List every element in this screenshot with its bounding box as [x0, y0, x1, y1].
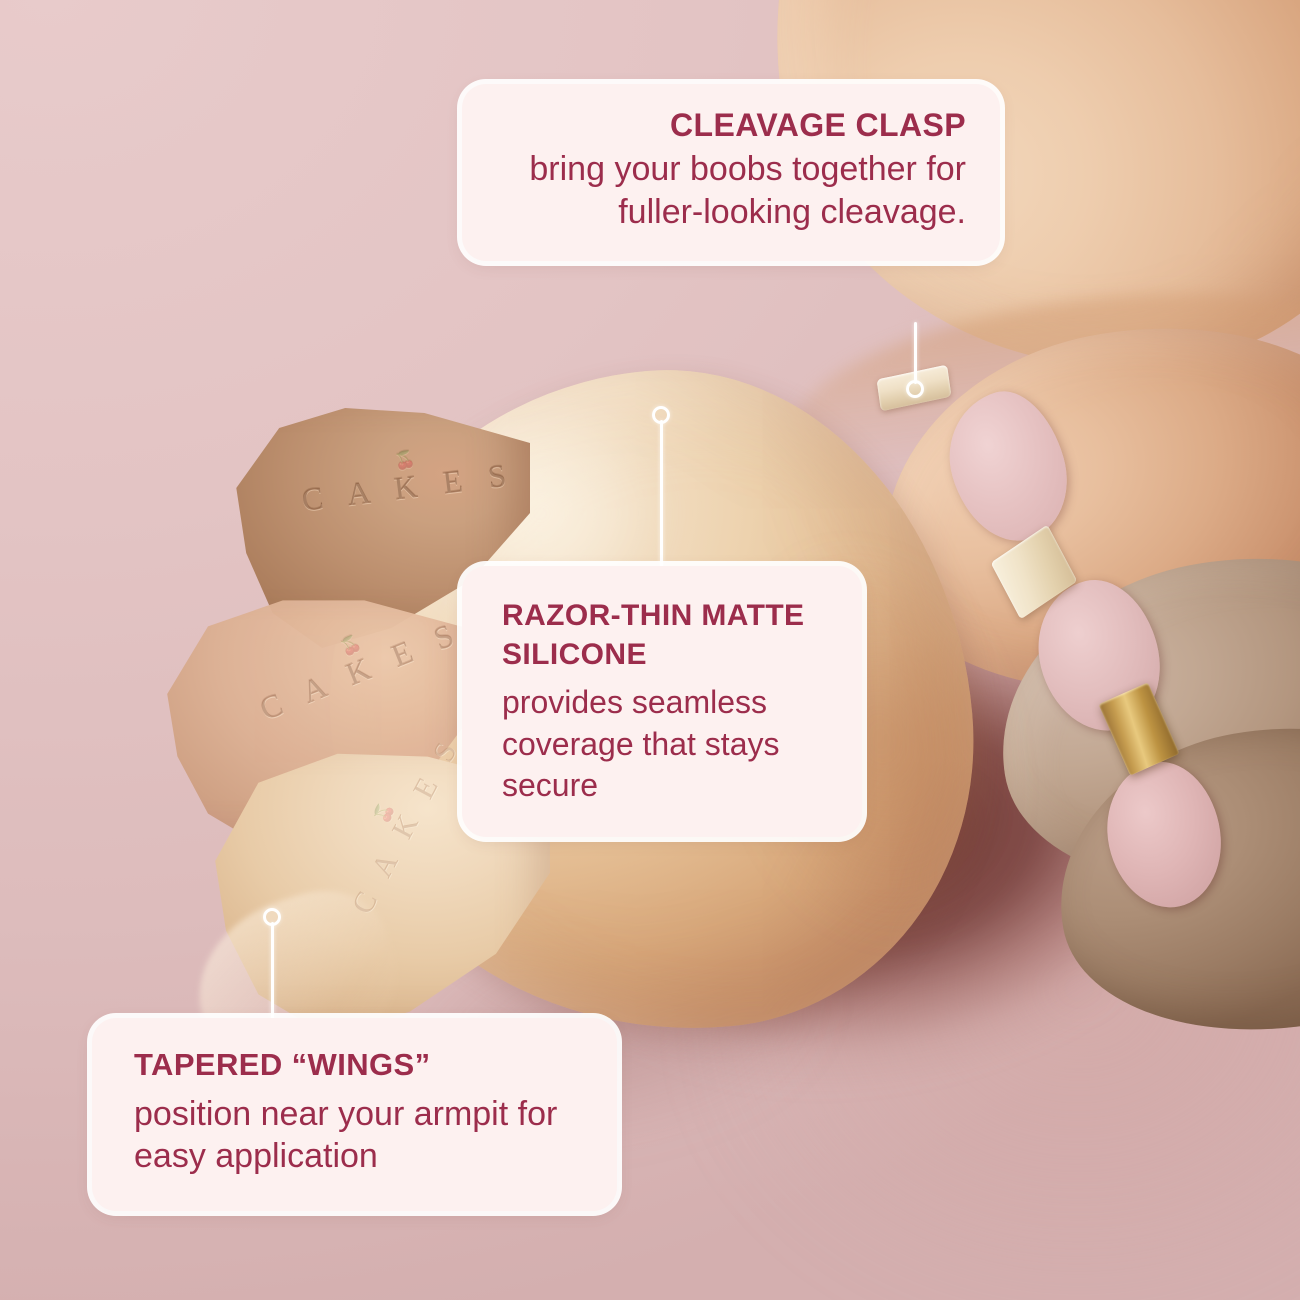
product-feature-infographic: 🍒 C A K E S 🍒 C A K E S 🍒 C A K E S CLEA… [0, 0, 1300, 1300]
callout-connector-wings [262, 908, 282, 1026]
callout-connector-silicone [651, 406, 671, 574]
callout-connector-cleavage-clasp [905, 322, 925, 404]
callout-card-tapered-wings: TAPERED “WINGS” position near your armpi… [92, 1018, 617, 1211]
connector-line [914, 322, 917, 384]
callout-title: RAZOR-THIN MATTE SILICONE [502, 596, 832, 674]
callout-card-cleavage-clasp: CLEAVAGE CLASP bring your boobs together… [462, 84, 1000, 261]
callout-title: CLEAVAGE CLASP [496, 108, 966, 144]
connector-line [660, 420, 663, 572]
callout-body: provides seamless coverage that stays se… [502, 682, 832, 807]
callout-body: bring your boobs together for fuller-loo… [496, 148, 966, 234]
connector-ring-icon [906, 380, 924, 398]
callout-title: TAPERED “WINGS” [134, 1048, 587, 1083]
connector-line [271, 922, 274, 1024]
callout-body: position near your armpit for easy appli… [134, 1093, 587, 1177]
callout-card-razor-thin-matte-silicone: RAZOR-THIN MATTE SILICONE provides seaml… [462, 566, 862, 837]
